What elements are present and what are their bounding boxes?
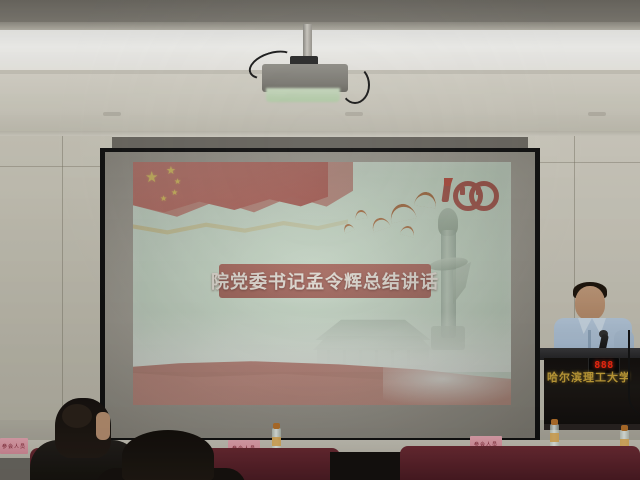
cpc-centennial-100-logo (441, 178, 489, 204)
audience-head (122, 430, 214, 480)
podium-name-plaque: 哈尔滨理工大学 (548, 368, 630, 386)
flag-star-icon: ★ (145, 172, 158, 183)
ceiling-downlight (345, 112, 363, 116)
dove-icon (400, 224, 416, 235)
wall-seam (528, 162, 640, 163)
flag-star-icon: ★ (174, 176, 181, 187)
meeting-room-photo: ★ ★ ★ ★ ★ (0, 0, 640, 480)
projector-cable-icon (340, 66, 370, 104)
wall-panel-left (0, 136, 112, 436)
slide-title-text: 院党委书记孟令辉总结讲话 (211, 268, 439, 294)
flag-star-icon: ★ (160, 193, 167, 204)
logo-zero-bar (460, 187, 465, 195)
audience-face-profile (96, 412, 110, 440)
logo-digit-zero (469, 181, 499, 211)
dove-icon (388, 201, 416, 220)
bottle-cap (621, 425, 628, 431)
name-card-text: 参会人员 (2, 443, 26, 450)
dove-icon (370, 215, 390, 230)
projector-lens-glow (266, 88, 340, 102)
ceiling-downlight (103, 112, 121, 116)
bottle-label (272, 437, 281, 446)
projected-slide: ★ ★ ★ ★ ★ (133, 162, 511, 405)
podium-cable (628, 330, 640, 416)
bottle-label (550, 433, 559, 442)
slide-title-banner: 院党委书记孟令辉总结讲话 (219, 264, 431, 298)
audience-hair-bun (62, 404, 92, 428)
flag-star-icon: ★ (171, 187, 178, 198)
ribbon-haze-overlay (383, 350, 511, 405)
seat-back-row (400, 446, 640, 480)
ceiling-downlight (588, 112, 606, 116)
ceiling-upper-band (0, 0, 640, 24)
name-card-placard: 参会人员 (0, 438, 28, 454)
logo-zero-bar (476, 187, 481, 195)
podium-plaque-text: 哈尔滨理工大学 (547, 369, 631, 385)
wall-seam (0, 166, 112, 167)
logo-flag-mark (444, 178, 453, 186)
bottle-cap (551, 419, 558, 425)
bottle-cap (273, 423, 280, 429)
dove-icon (355, 209, 368, 217)
wall-seam (62, 136, 63, 436)
